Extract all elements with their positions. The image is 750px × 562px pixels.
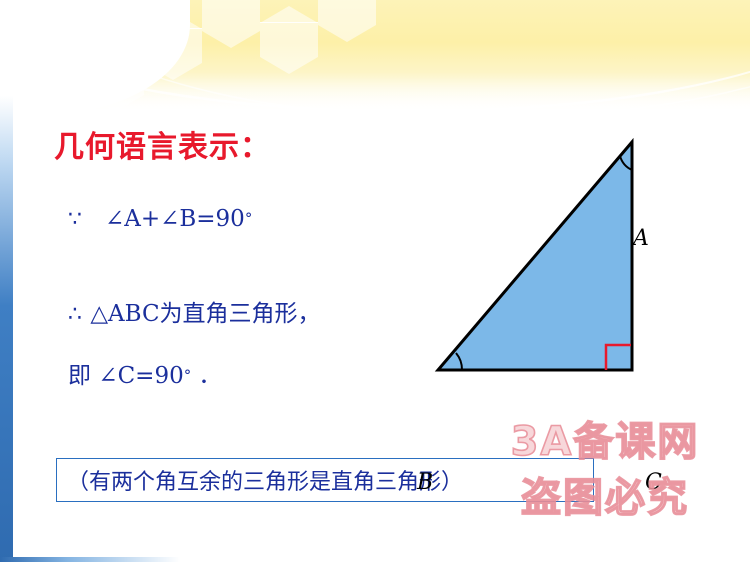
statement-premise: ∵ ∠A+∠B=90° <box>68 206 252 232</box>
triangle-figure: A B C <box>400 112 700 402</box>
degree-symbol: ° <box>184 366 192 384</box>
vertex-label-b: B <box>417 470 433 495</box>
degree-symbol: ° <box>245 209 253 227</box>
band-fade-decor <box>0 72 750 112</box>
therefore-symbol: ∴ <box>68 302 83 327</box>
vertex-label-a: A <box>633 226 649 251</box>
decorative-top-band <box>0 0 750 112</box>
triangle-shape <box>438 142 632 370</box>
page-title: 几何语言表示： <box>54 122 271 166</box>
statement-detail: 即 ∠C=90° ． <box>68 356 222 390</box>
boxed-conclusion-text: （有两个角互余的三角形是直角三角形） <box>67 464 463 496</box>
statement-detail-prefix: 即 <box>68 363 91 389</box>
boxed-conclusion: （有两个角互余的三角形是直角三角形） <box>56 458 594 502</box>
vertex-label-c: C <box>645 470 662 495</box>
slide-root: 几何语言表示： ∵ ∠A+∠B=90° ∴ △ABC为直角三角形， 即 ∠C=9… <box>0 0 750 562</box>
left-blue-rail <box>0 96 13 562</box>
statement-premise-text: ∠A+∠B=90 <box>105 206 245 232</box>
statement-conclusion-text: △ABC为直角三角形， <box>90 301 320 327</box>
statement-detail-text: ∠C=90 <box>98 363 183 389</box>
triangle-svg <box>400 112 700 402</box>
bottom-blue-rail <box>0 557 750 562</box>
statement-conclusion: ∴ △ABC为直角三角形， <box>68 294 321 328</box>
because-symbol: ∵ <box>68 207 83 232</box>
statement-detail-suffix: ． <box>199 363 222 389</box>
